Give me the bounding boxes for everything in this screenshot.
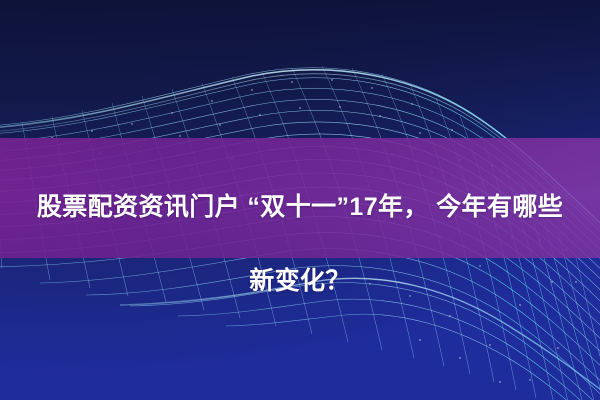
banner-image: 股票配资资讯门户 “双十一”17年， 今年有哪些 新变化？: [0, 0, 600, 400]
banner-headline: 股票配资资讯门户 “双十一”17年， 今年有哪些 新变化？: [0, 152, 600, 337]
headline-line-1: 股票配资资讯门户 “双十一”17年， 今年有哪些: [0, 189, 600, 226]
headline-line-2: 新变化？: [0, 263, 600, 300]
